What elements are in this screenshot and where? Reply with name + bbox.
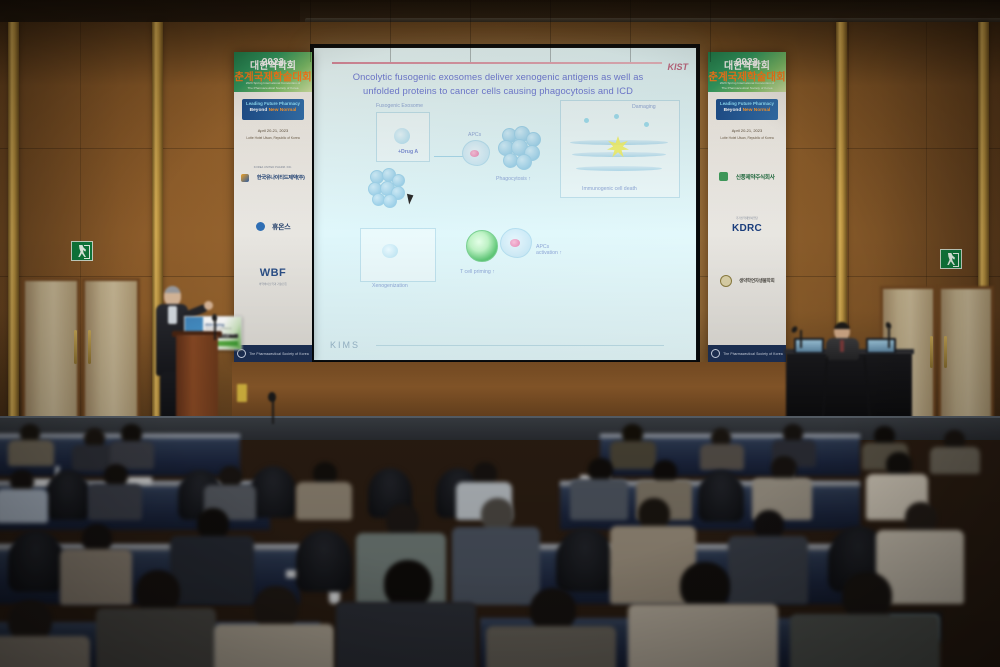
door-handle[interactable] xyxy=(930,336,933,368)
door-handle[interactable] xyxy=(944,336,947,368)
stage-panel-seam xyxy=(390,0,391,62)
banner-footer-text: The Pharmaceutical Society of Korea xyxy=(723,352,783,356)
banner-date: April 20-21, 2023 xyxy=(234,128,312,133)
sponsor-logo-pharm-society: 생약학연자생물학회 xyxy=(708,272,786,290)
sponsor-name-huons: 휴온스 xyxy=(272,222,290,232)
kims-logo: KIMS xyxy=(330,340,360,350)
exosome-particle xyxy=(394,128,410,144)
slide-footer-rule xyxy=(376,345,664,346)
exit-door-icon xyxy=(84,245,90,259)
audience-member xyxy=(110,424,154,466)
door-handle[interactable] xyxy=(88,330,91,364)
sponsor-name-korea-united: 한국유나이티드제약(주) xyxy=(257,174,305,181)
sponsor-name-shinpoong: 신풍제약주식회사 xyxy=(736,173,775,181)
sponsor-sub-korea-united: KOREA UNITED PHARM. INC. xyxy=(234,166,312,169)
banner-place: Lotte Hotel Ulsan, Republic of Korea xyxy=(234,136,312,140)
speaker-head xyxy=(164,286,181,306)
audience-shoulders xyxy=(0,489,48,523)
diagram-label-phagocytosis: Phagocytosis ↑ xyxy=(496,176,531,182)
signal-particle xyxy=(614,114,619,119)
banner-slogan-line1: Leading Future Pharmacy xyxy=(242,101,304,106)
banner-slogan-line1: Leading Future Pharmacy xyxy=(716,101,778,106)
stage-panel-seam xyxy=(310,0,311,62)
presentation-slide: KIST Oncolytic fusogenic exosomes delive… xyxy=(314,48,696,360)
stage-panel-seam xyxy=(470,0,471,62)
diagram-label-damaging: Damaging xyxy=(632,104,656,110)
exit-door-icon xyxy=(953,253,959,267)
audience-shoulders xyxy=(486,626,616,667)
society-seal-icon xyxy=(720,275,732,287)
audience-member xyxy=(700,428,744,468)
sponsor-logo-huons: 휴온스 xyxy=(234,218,312,236)
banner-slogan-line2: Beyond New Normal xyxy=(242,108,304,113)
slide-rule xyxy=(332,62,662,64)
stage-panel-seam xyxy=(550,0,551,62)
audience-member-foreground xyxy=(790,572,940,667)
society-seal-icon xyxy=(711,349,720,358)
podium-power-outlet xyxy=(237,384,247,402)
xenogenization-particle xyxy=(382,244,398,258)
diagram-label-t-cell-priming: T cell priming ↑ xyxy=(460,269,495,275)
t-cell xyxy=(466,230,498,262)
banner-place: Lotte Hotel Ulsan, Republic of Korea xyxy=(708,136,786,140)
apc-cell xyxy=(462,140,490,166)
sponsor-mark-icon xyxy=(256,222,265,231)
banner-slogan-new-normal: New Normal xyxy=(743,108,771,113)
xenogenized-cell-clump xyxy=(366,168,406,208)
audience-head xyxy=(842,572,892,620)
audience-head xyxy=(384,560,432,608)
sponsor-name-pharm-society: 생약학연자생물학회 xyxy=(739,278,774,284)
sponsor-logo-kdrc: 국가신약개발사업단 KDRC xyxy=(708,216,786,238)
sponsor-name-kdrc: KDRC xyxy=(732,223,762,234)
moderator-person xyxy=(824,322,864,356)
stage-panel-seam xyxy=(710,0,711,62)
audience-shoulders xyxy=(8,440,54,466)
audience-shoulders xyxy=(700,444,744,470)
audience-member-foreground xyxy=(628,562,778,667)
table-mic-stand xyxy=(888,328,890,348)
banner-footer-text: The Pharmaceutical Society of Korea xyxy=(249,352,309,356)
banner-slogan-line2: Beyond New Normal xyxy=(716,108,778,113)
conference-hall-photo: KIST Oncolytic fusogenic exosomes delive… xyxy=(0,0,1000,667)
diagram-panel-xenogenization xyxy=(360,228,436,282)
floor-mic-head xyxy=(268,392,276,402)
audience-chair xyxy=(556,528,614,592)
audience-member xyxy=(0,470,48,522)
audience-chair xyxy=(250,466,296,518)
audience-head xyxy=(680,562,730,610)
exit-sign-right xyxy=(940,249,962,269)
diagram-label-immunogenic-cell-death: Immunogenic cell death xyxy=(582,186,637,192)
audience-chair xyxy=(46,470,90,520)
audience-member xyxy=(8,424,54,464)
banner-date: April 20-21, 2023 xyxy=(708,128,786,133)
audience-shoulders xyxy=(88,484,142,520)
sponsor-logo-korea-united: KOREA UNITED PHARM. INC. 한국유나이티드제약(주) xyxy=(234,166,312,187)
banner-slogan-beyond: Beyond xyxy=(724,108,743,113)
society-seal-icon xyxy=(237,349,246,358)
audience-member-foreground xyxy=(336,560,476,667)
banner-slogan-new-normal: New Normal xyxy=(269,108,297,113)
banner-subtitle-en-2: The Pharmaceutical Society of Korea xyxy=(234,86,312,90)
gold-pilaster xyxy=(8,22,19,422)
podium-mic-head xyxy=(212,314,217,321)
audience-shoulders xyxy=(214,624,334,667)
audience-member-foreground xyxy=(486,588,616,667)
speaker-hand xyxy=(204,301,213,310)
audience-shoulders xyxy=(336,602,476,667)
slide-title: Oncolytic fusogenic exosomes deliver xen… xyxy=(328,70,668,97)
slide-title-line2: unfolded proteins to cancer cells causin… xyxy=(328,84,668,98)
sponsor-mark-icon xyxy=(719,172,728,181)
speaker-shirt xyxy=(168,306,177,324)
banner-slogan-beyond: Beyond xyxy=(250,108,269,113)
audience-shoulders xyxy=(96,608,216,667)
wall-seam xyxy=(80,22,81,422)
cancer-cell-clump xyxy=(496,126,542,172)
diagram-label-apcs: APCs xyxy=(468,132,481,138)
audience-shoulders xyxy=(0,636,90,667)
apc-nucleus xyxy=(510,239,520,247)
banner-slogan-pill: Leading Future Pharmacy Beyond New Norma… xyxy=(242,99,304,120)
event-banner-left: 2023 대한약학회 춘계국제학술대회 2023 Spring Internat… xyxy=(234,52,312,362)
audience-member xyxy=(296,462,352,520)
moderator-tie xyxy=(840,340,844,352)
head-table xyxy=(786,352,912,424)
banner-footer-left: The Pharmaceutical Society of Korea xyxy=(234,345,312,362)
signal-particle xyxy=(644,122,649,127)
audience-shoulders xyxy=(628,604,778,667)
hall-door[interactable] xyxy=(22,278,80,424)
audience-member-foreground xyxy=(0,600,90,667)
audience-member xyxy=(88,464,142,520)
banner-subtitle-en-1: 2023 Spring International Convention of xyxy=(234,81,312,85)
audience-shoulders xyxy=(930,447,980,474)
podium xyxy=(176,335,218,425)
banner-slogan-pill: Leading Future Pharmacy Beyond New Norma… xyxy=(716,99,778,120)
exit-sign-left xyxy=(71,241,93,261)
kist-logo: KIST xyxy=(667,62,688,72)
diagram-label-drug-a: +Drug A xyxy=(398,149,418,155)
audience-shoulders xyxy=(296,482,352,520)
stage-front-wall xyxy=(232,362,788,424)
podium-sign-line2: International Convention of xyxy=(205,328,231,330)
laptop-screen xyxy=(868,340,894,352)
apc-cell-activated xyxy=(500,228,532,258)
mouse-cursor xyxy=(407,192,415,204)
audience-shoulders xyxy=(790,614,940,667)
audience-member-foreground xyxy=(214,586,334,667)
audience-member-foreground xyxy=(96,570,216,667)
sponsor-name-wbf: WBF xyxy=(260,267,287,279)
signal-particle xyxy=(584,118,589,123)
diagram-label-fusogenic-exosome: Fusogenic Exosome xyxy=(376,103,423,109)
banner-subtitle-en-1: 2023 Spring International Convention of xyxy=(708,81,786,85)
stage-panel-seam xyxy=(630,0,631,62)
audience-chair xyxy=(8,530,64,592)
slide-title-line1: Oncolytic fusogenic exosomes deliver xen… xyxy=(328,70,668,84)
sponsor-logo-shinpoong: 신풍제약주식회사 xyxy=(708,168,786,186)
sponsor-logo-wbf: WBF 의약바이오학과 기술진흥 xyxy=(234,264,312,286)
apc-nucleus xyxy=(470,150,479,157)
sponsor-sub-kdrc: 국가신약개발사업단 xyxy=(708,216,786,220)
sponsor-mark-icon xyxy=(241,174,249,182)
banner-footer-right: The Pharmaceutical Society of Korea xyxy=(708,345,786,362)
sponsor-sub-wbf: 의약바이오학과 기술진흥 xyxy=(234,282,312,286)
cell-membrane xyxy=(576,166,662,171)
door-handle[interactable] xyxy=(74,330,77,364)
audience-member xyxy=(930,430,980,472)
event-banner-right: 2023 대한약학회 춘계국제학술대회 2023 Spring Internat… xyxy=(708,52,786,362)
diagram-label-apcs-activation: APCs activation ↑ xyxy=(536,244,570,256)
table-mic-stand xyxy=(800,330,802,348)
banner-subtitle-en-2: The Pharmaceutical Society of Korea xyxy=(708,86,786,90)
diagram-label-xenogenization: Xenogenization xyxy=(372,283,408,289)
podium-mic-stand xyxy=(214,318,216,340)
